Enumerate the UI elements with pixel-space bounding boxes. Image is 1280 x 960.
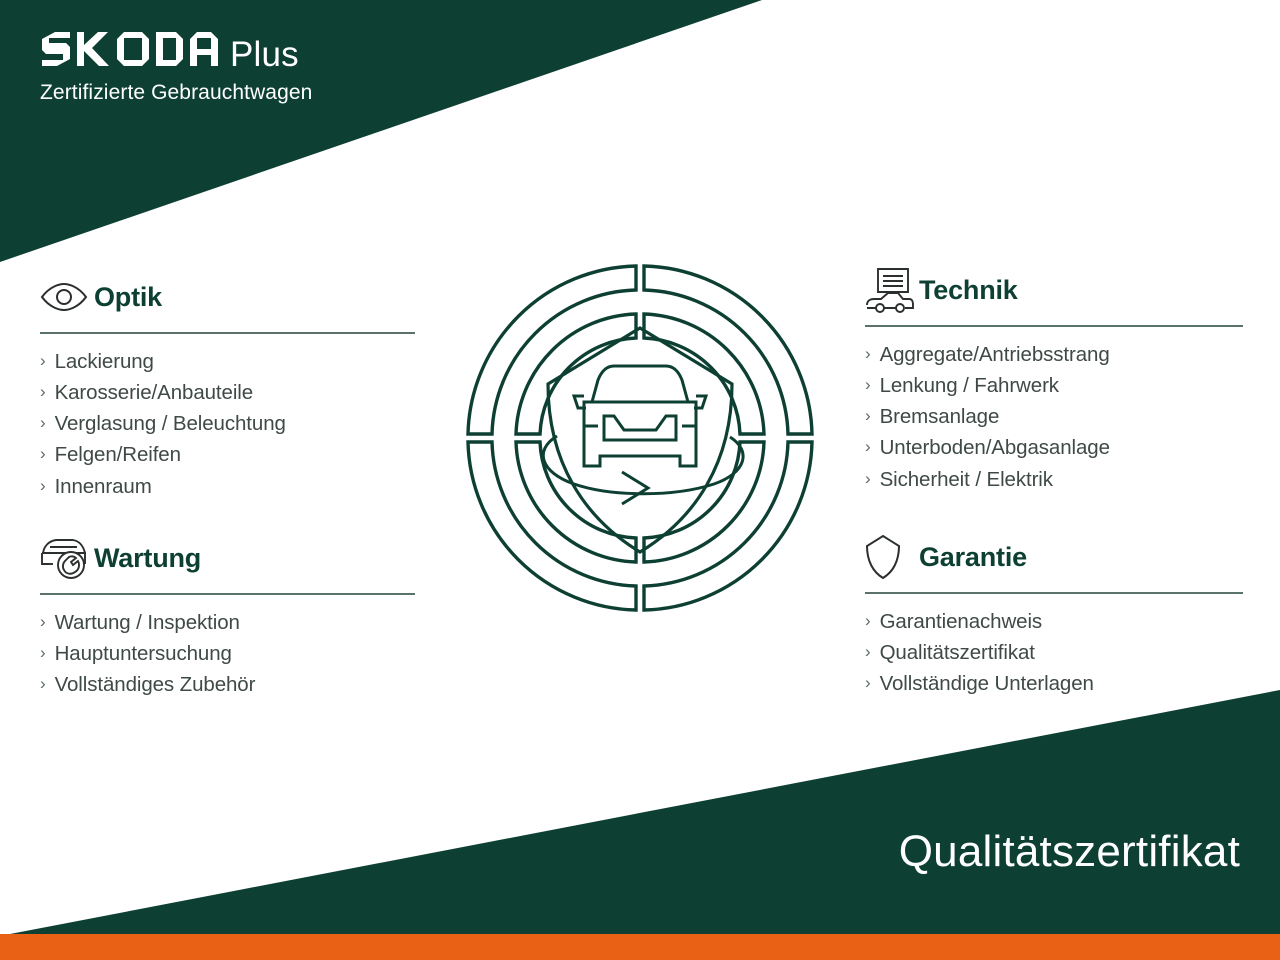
list-item-label: Aggregate/Antriebsstrang <box>880 339 1110 370</box>
list-item: ›Garantienachweis <box>865 606 1243 637</box>
list-item-label: Sicherheit / Elektrik <box>880 464 1053 495</box>
chevron-right-icon: › <box>40 439 46 469</box>
skoda-wordmark <box>40 32 218 66</box>
list-item-label: Qualitätszertifikat <box>880 637 1035 668</box>
list-item: ›Felgen/Reifen <box>40 439 415 470</box>
list-item-label: Wartung / Inspektion <box>55 607 240 638</box>
chevron-right-icon: › <box>865 370 871 400</box>
list-item-label: Vollständiges Zubehör <box>55 669 256 700</box>
list-item: ›Karosserie/Anbauteile <box>40 377 415 408</box>
list-item: ›Bremsanlage <box>865 401 1243 432</box>
chevron-right-icon: › <box>40 607 46 637</box>
chevron-right-icon: › <box>40 638 46 668</box>
eye-icon <box>40 282 94 312</box>
list-item-label: Innenraum <box>55 471 152 502</box>
list-item-label: Bremsanlage <box>880 401 1000 432</box>
section-divider <box>40 593 415 595</box>
chevron-right-icon: › <box>865 339 871 369</box>
list-item-label: Vollständige Unterlagen <box>880 668 1094 699</box>
section-list: ›Garantienachweis ›Qualitätszertifikat ›… <box>865 606 1243 699</box>
chevron-right-icon: › <box>865 464 871 494</box>
list-item: ›Aggregate/Antriebsstrang <box>865 339 1243 370</box>
list-item: ›Innenraum <box>40 471 415 502</box>
shield-icon <box>865 534 919 580</box>
chevron-right-icon: › <box>40 471 46 501</box>
list-item: ›Wartung / Inspektion <box>40 607 415 638</box>
chevron-right-icon: › <box>865 637 871 667</box>
list-item: ›Verglasung / Beleuchtung <box>40 408 415 439</box>
list-item-label: Lenkung / Fahrwerk <box>880 370 1059 401</box>
section-list: ›Lackierung ›Karosserie/Anbauteile ›Verg… <box>40 346 415 502</box>
car-document-icon <box>865 267 919 313</box>
list-item: ›Hauptuntersuchung <box>40 638 415 669</box>
list-item-label: Hauptuntersuchung <box>55 638 232 669</box>
brand-header: Plus Zertifizierte Gebrauchtwagen <box>40 32 312 104</box>
chevron-right-icon: › <box>40 408 46 438</box>
chevron-right-icon: › <box>865 606 871 636</box>
section-optik: Optik ›Lackierung ›Karosserie/Anbauteile… <box>40 272 415 502</box>
list-item-label: Karosserie/Anbauteile <box>55 377 253 408</box>
brand-subtitle: Zertifizierte Gebrauchtwagen <box>40 81 312 104</box>
certificate-page: Plus Zertifizierte Gebrauchtwagen <box>0 0 1280 960</box>
list-item-label: Felgen/Reifen <box>55 439 181 470</box>
list-item: ›Lackierung <box>40 346 415 377</box>
section-wartung: Wartung ›Wartung / Inspektion ›Hauptunte… <box>40 533 415 700</box>
chevron-right-icon: › <box>865 401 871 431</box>
section-divider <box>865 325 1243 327</box>
orange-bottom-bar <box>0 934 1280 960</box>
outer-ring-segments <box>468 266 812 610</box>
shield-car-orbit-emblem <box>452 250 828 631</box>
section-title: Garantie <box>919 544 1027 571</box>
list-item: ›Vollständige Unterlagen <box>865 668 1243 699</box>
list-item: ›Sicherheit / Elektrik <box>865 464 1243 495</box>
chevron-right-icon: › <box>40 346 46 376</box>
section-divider <box>865 592 1243 594</box>
car-front-icon <box>574 366 706 466</box>
section-title: Wartung <box>94 545 201 572</box>
section-title: Technik <box>919 277 1018 304</box>
section-technik: Technik ›Aggregate/Antriebsstrang ›Lenku… <box>865 265 1243 495</box>
bottom-right-green-wedge <box>10 690 1280 934</box>
brand-plus-label: Plus <box>230 37 299 72</box>
list-item: ›Unterboden/Abgasanlage <box>865 432 1243 463</box>
list-item-label: Unterboden/Abgasanlage <box>880 432 1110 463</box>
list-item: ›Vollständiges Zubehör <box>40 669 415 700</box>
list-item-label: Garantienachweis <box>880 606 1043 637</box>
section-header: Optik <box>40 272 415 322</box>
chevron-right-icon: › <box>40 669 46 699</box>
section-header: Garantie <box>865 532 1243 582</box>
section-garantie: Garantie ›Garantienachweis ›Qualitätszer… <box>865 532 1243 699</box>
section-divider <box>40 332 415 334</box>
footer-title: Qualitätszertifikat <box>899 830 1240 874</box>
chevron-right-icon: › <box>40 377 46 407</box>
list-item-label: Lackierung <box>55 346 154 377</box>
car-wrench-icon <box>40 536 94 580</box>
section-list: ›Wartung / Inspektion ›Hauptuntersuchung… <box>40 607 415 700</box>
list-item: ›Qualitätszertifikat <box>865 637 1243 668</box>
list-item-label: Verglasung / Beleuchtung <box>55 408 286 439</box>
section-header: Technik <box>865 265 1243 315</box>
section-list: ›Aggregate/Antriebsstrang ›Lenkung / Fah… <box>865 339 1243 495</box>
chevron-right-icon: › <box>865 432 871 462</box>
chevron-right-icon: › <box>865 668 871 698</box>
list-item: ›Lenkung / Fahrwerk <box>865 370 1243 401</box>
section-title: Optik <box>94 284 162 311</box>
section-header: Wartung <box>40 533 415 583</box>
